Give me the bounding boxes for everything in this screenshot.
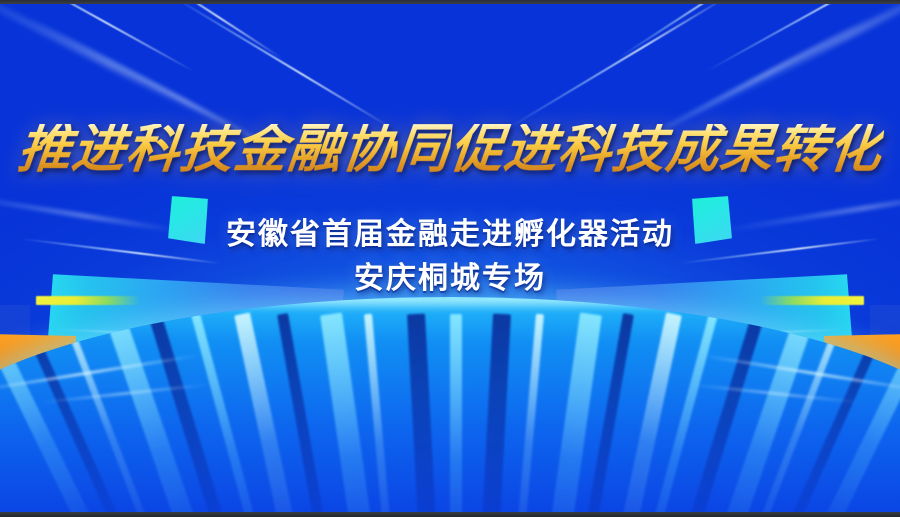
subtitle-line-2: 安庆桐城专场 [0, 260, 900, 298]
floor-line [407, 313, 439, 517]
subtitle-line-1: 安徽省首届金融走进孵化器活动 [0, 216, 900, 254]
headline-part-2: 促进科技成果转化 [447, 124, 885, 177]
letterbox-bar-bottom [0, 512, 900, 517]
floor-line [0, 310, 105, 517]
letterbox-bar-top [0, 0, 900, 4]
floor-line [364, 313, 395, 517]
headline-part-1: 推进科技金融协同 [15, 124, 453, 177]
headline-block: 推进科技金融协同促进科技成果转化 [0, 124, 900, 177]
subtitle-block: 安徽省首届金融走进孵化器活动 安庆桐城专场 [0, 216, 900, 299]
floor-line [450, 314, 462, 517]
floor-line [513, 313, 544, 517]
poster-canvas: 推进科技金融协同促进科技成果转化 安徽省首届金融走进孵化器活动 安庆桐城专场 [0, 0, 900, 517]
floor-line [479, 313, 511, 517]
floor-light-lines [0, 297, 900, 517]
stage-floor [0, 297, 900, 517]
floor-line [811, 310, 900, 517]
